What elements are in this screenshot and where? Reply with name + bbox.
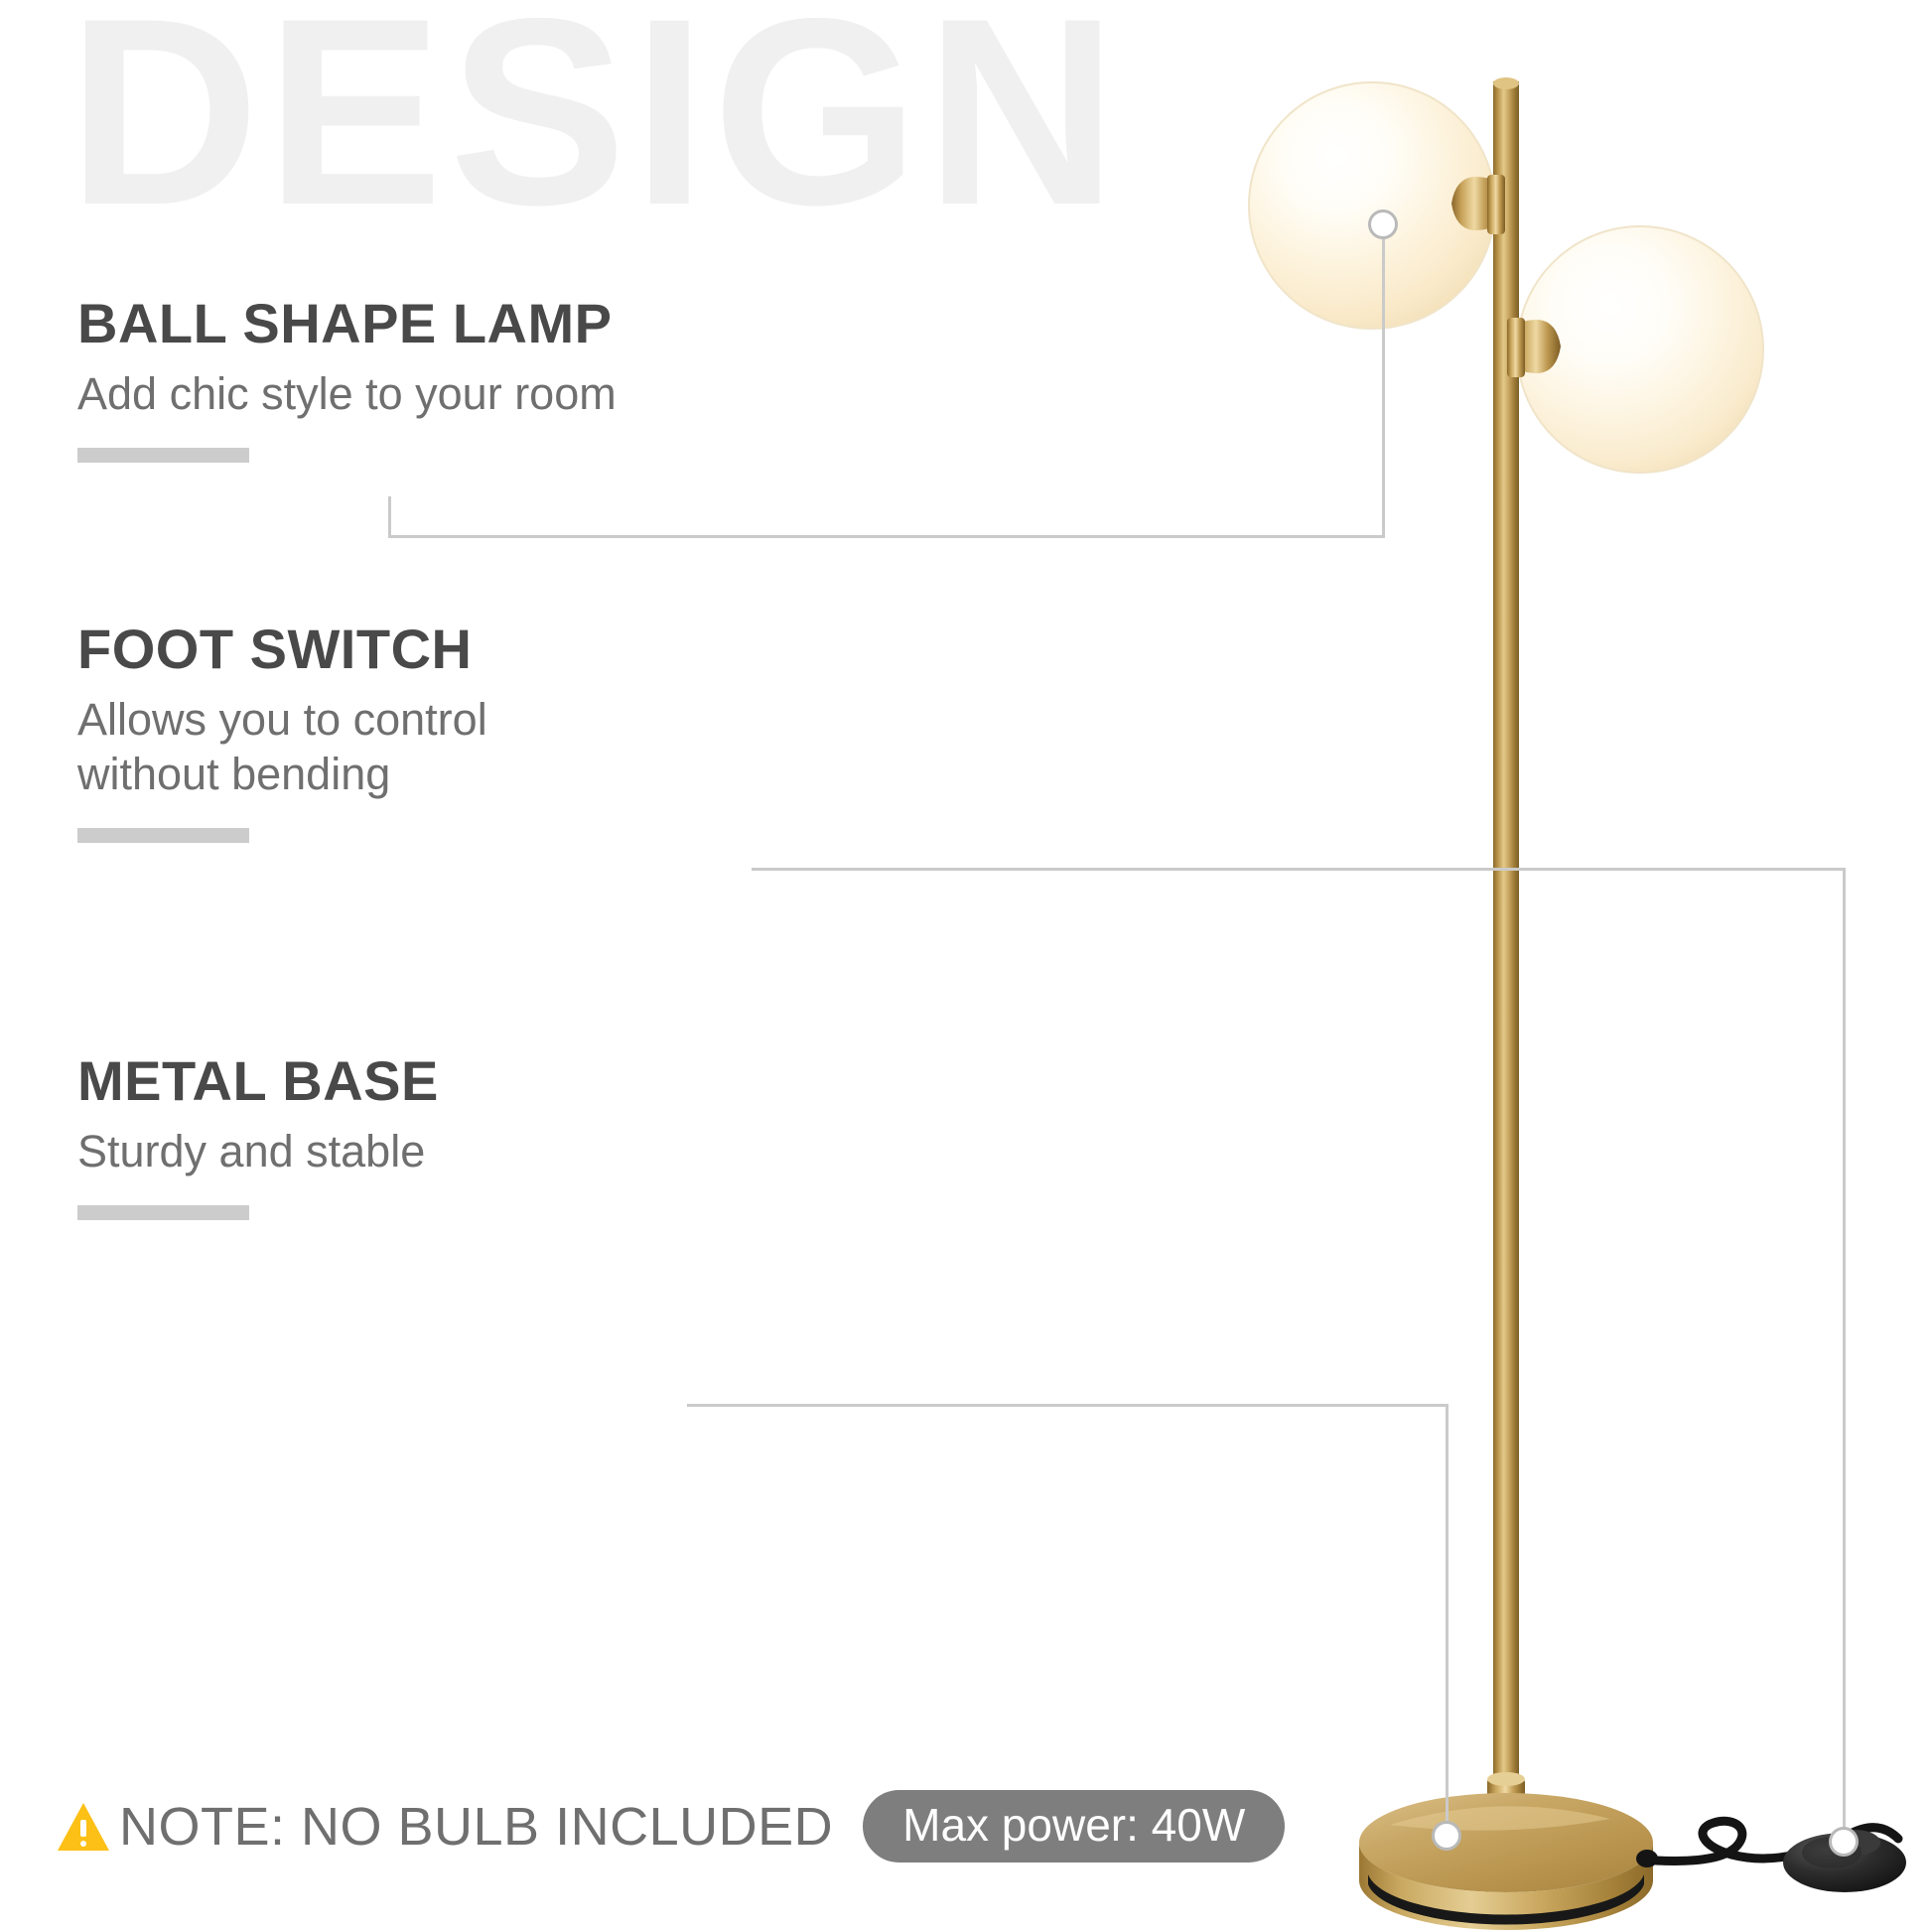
max-power-badge: Max power: 40W xyxy=(863,1790,1285,1863)
feature-subtitle: Allows you to control without bending xyxy=(77,693,487,802)
product-illustration xyxy=(0,0,1932,1932)
note-text: NOTE: NO BULB INCLUDED xyxy=(119,1796,833,1858)
callout-dot-ball-shape-lamp[interactable] xyxy=(1368,209,1398,239)
feature-rule xyxy=(77,1205,249,1220)
feature-subtitle-line2: without bending xyxy=(77,748,487,802)
feature-title: BALL SHAPE LAMP xyxy=(77,295,617,353)
feature-title: METAL BASE xyxy=(77,1052,439,1111)
feature-subtitle-line1: Add chic style to your room xyxy=(77,368,617,419)
callout-dot-foot-switch[interactable] xyxy=(1829,1827,1859,1857)
warning-triangle-icon xyxy=(58,1803,109,1851)
feature-ball-shape-lamp: BALL SHAPE LAMP Add chic style to your r… xyxy=(77,295,617,463)
feature-subtitle: Sturdy and stable xyxy=(77,1125,439,1179)
feature-rule xyxy=(77,448,249,463)
metal-base-disc xyxy=(1359,1772,1658,1930)
feature-rule xyxy=(77,828,249,843)
feature-subtitle-line1: Allows you to control xyxy=(77,694,487,745)
feature-subtitle-line1: Sturdy and stable xyxy=(77,1126,425,1176)
feature-title: FOOT SWITCH xyxy=(77,621,487,679)
callout-dot-metal-base[interactable] xyxy=(1432,1821,1461,1851)
note-row: NOTE: NO BULB INCLUDED Max power: 40W xyxy=(58,1790,1285,1863)
feature-metal-base: METAL BASE Sturdy and stable xyxy=(77,1052,439,1220)
feature-foot-switch: FOOT SWITCH Allows you to control withou… xyxy=(77,621,487,843)
feature-subtitle: Add chic style to your room xyxy=(77,367,617,422)
